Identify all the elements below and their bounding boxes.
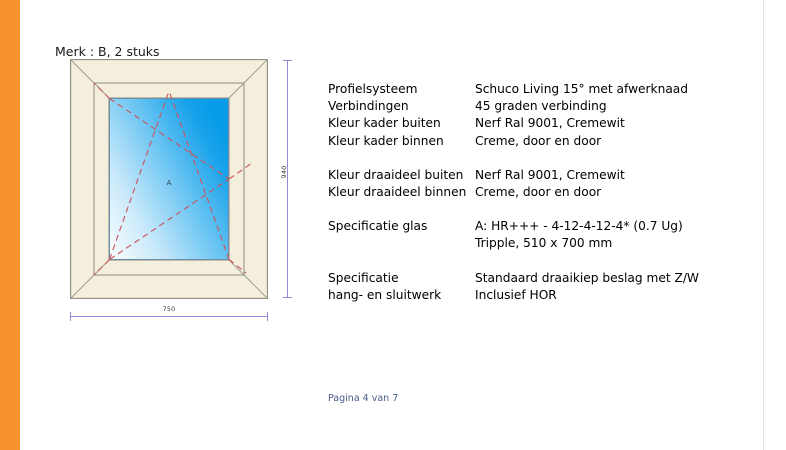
spec-label: Kleur draaideel buiten bbox=[328, 167, 475, 184]
spec-label: Kleur kader binnen bbox=[328, 133, 475, 150]
width-dimension-label: 750 bbox=[70, 305, 268, 313]
spec-row: Verbindingen45 graden verbinding bbox=[328, 98, 748, 115]
window-drawing-block: Merk : B, 2 stuks bbox=[0, 0, 310, 340]
spec-row: Kleur draaideel buitenNerf Ral 9001, Cre… bbox=[328, 167, 748, 184]
page-number-footer: Pagina 4 van 7 bbox=[328, 393, 398, 404]
spec-label: Specificatie bbox=[328, 270, 475, 287]
merk-title: Merk : B, 2 stuks bbox=[55, 44, 160, 59]
height-dimension-label: 940 bbox=[280, 158, 288, 186]
spec-label: Profielsysteem bbox=[328, 81, 475, 98]
spec-value: Tripple, 510 x 700 mm bbox=[475, 235, 748, 252]
spec-row: Specificatie glasA: HR+++ - 4-12-4-12-4*… bbox=[328, 218, 748, 235]
spec-row: Kleur draaideel binnenCreme, door en doo… bbox=[328, 184, 748, 201]
spec-label: Specificatie glas bbox=[328, 218, 475, 235]
specification-table: ProfielsysteemSchuco Living 15° met afwe… bbox=[328, 81, 748, 304]
height-dimension-tick-top bbox=[283, 60, 292, 61]
window-drawing-svg: A bbox=[70, 59, 268, 299]
spec-label: Verbindingen bbox=[328, 98, 475, 115]
spec-value: Creme, door en door bbox=[475, 133, 748, 150]
height-dimension-tick-bottom bbox=[283, 297, 292, 298]
window-assembly: A bbox=[70, 59, 268, 299]
width-dimension-tick-right bbox=[267, 312, 268, 321]
spec-value: Creme, door en door bbox=[475, 184, 748, 201]
spec-value: Schuco Living 15° met afwerknaad bbox=[475, 81, 748, 98]
spec-value: 45 graden verbinding bbox=[475, 98, 748, 115]
page-right-rule bbox=[763, 0, 764, 450]
width-dimension-tick-left bbox=[70, 312, 71, 321]
spec-label: hang- en sluitwerk bbox=[328, 287, 475, 304]
spec-value: A: HR+++ - 4-12-4-12-4* (0.7 Ug) bbox=[475, 218, 748, 235]
spec-label: Kleur draaideel binnen bbox=[328, 184, 475, 201]
spec-row: hang- en sluitwerkInclusief HOR bbox=[328, 287, 748, 304]
spec-row: ProfielsysteemSchuco Living 15° met afwe… bbox=[328, 81, 748, 98]
spec-row: Kleur kader buitenNerf Ral 9001, Cremewi… bbox=[328, 115, 748, 132]
spec-row: Kleur kader binnenCreme, door en door bbox=[328, 133, 748, 150]
spec-value: Standaard draaikiep beslag met Z/W bbox=[475, 270, 748, 287]
spec-value: Nerf Ral 9001, Cremewit bbox=[475, 115, 748, 132]
spec-row: Tripple, 510 x 700 mm bbox=[328, 235, 748, 252]
spec-value: Nerf Ral 9001, Cremewit bbox=[475, 167, 748, 184]
spec-value: Inclusief HOR bbox=[475, 287, 748, 304]
glass-label: A bbox=[167, 179, 172, 187]
width-dimension-line bbox=[70, 316, 268, 317]
spec-row: SpecificatieStandaard draaikiep beslag m… bbox=[328, 270, 748, 287]
spec-label: Kleur kader buiten bbox=[328, 115, 475, 132]
